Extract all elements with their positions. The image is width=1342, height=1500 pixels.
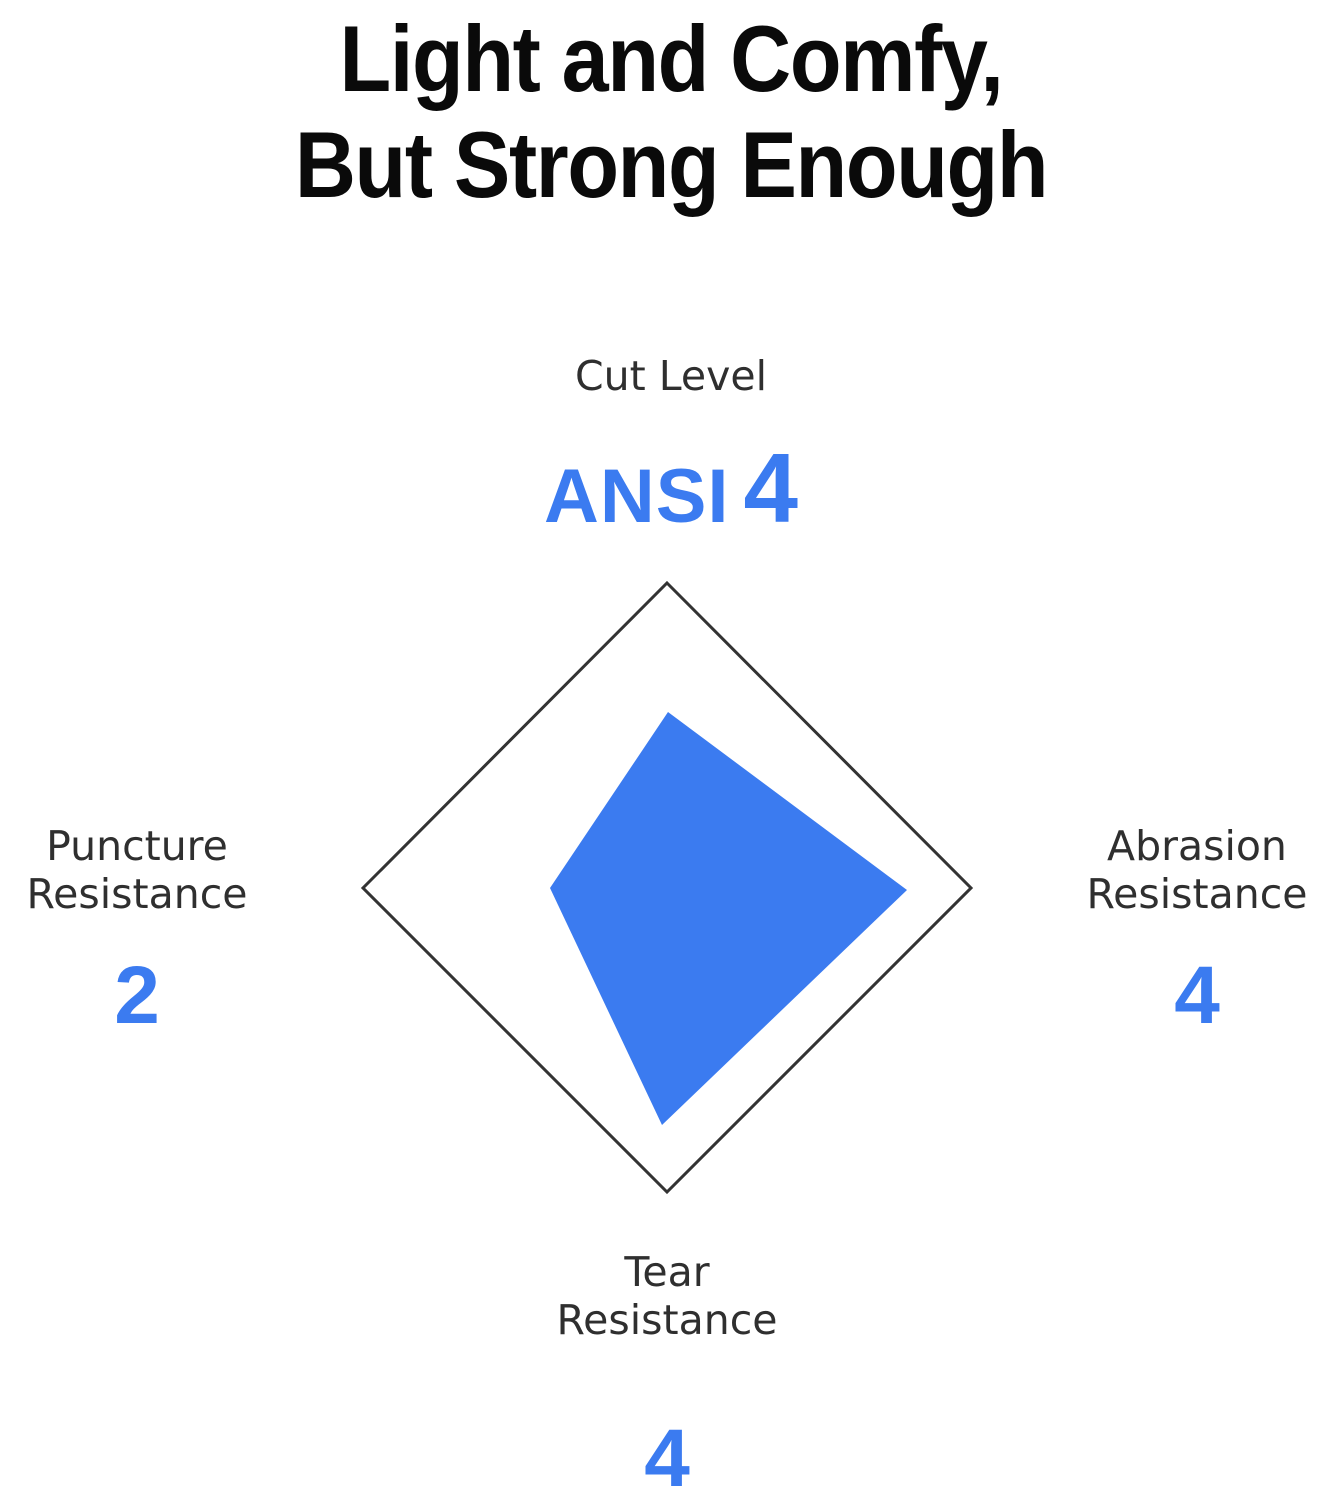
axis-value-tear-resistance: 4 <box>522 1418 812 1500</box>
cut-level-standard-label: ANSI <box>544 454 730 539</box>
axis-label-tear-resistance: Tear Resistance <box>522 1248 812 1345</box>
axis-label-abrasion-resistance: Abrasion Resistance <box>1052 822 1342 919</box>
radar-data-polygon <box>550 712 907 1125</box>
infographic-page: Light and Comfy, But Strong Enough Cut L… <box>0 0 1342 1500</box>
axis-value-puncture-resistance: 2 <box>0 955 282 1037</box>
axis-value-abrasion-resistance: 4 <box>1052 955 1342 1037</box>
axis-label-puncture-resistance: Puncture Resistance <box>0 822 282 919</box>
axis-value-cut-level: ANSI4 <box>471 432 871 545</box>
axis-label-cut-level: Cut Level <box>471 352 871 400</box>
cut-level-value: 4 <box>744 433 799 543</box>
